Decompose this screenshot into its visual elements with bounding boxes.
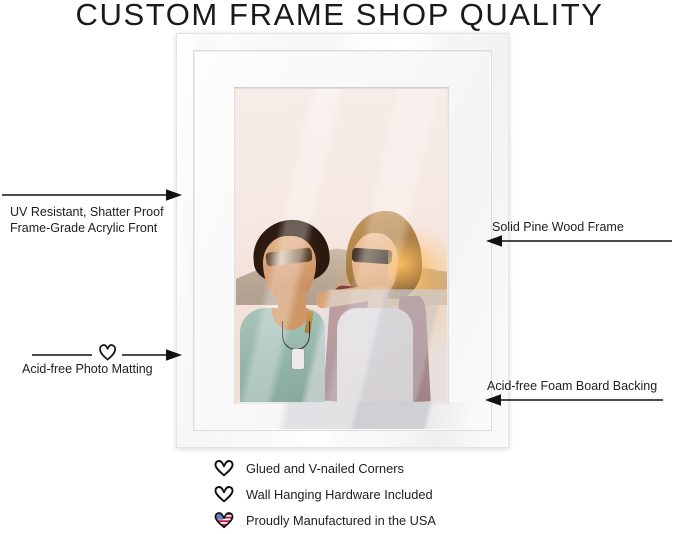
heart-outline-icon [213, 485, 235, 503]
heart-usa-flag-icon [213, 511, 235, 529]
list-item: Proudly Manufactured in the USA [213, 508, 513, 532]
list-item: Glued and V-nailed Corners [213, 456, 513, 480]
annotation-acrylic-front-line1: UV Resistant, Shatter Proof [10, 205, 164, 221]
arrow-photo-matting-icon [30, 340, 185, 362]
infographic-canvas: CUSTOM FRAME SHOP QUALITY [0, 0, 679, 530]
photo-woman-top [337, 308, 413, 402]
arrow-pine-wood-frame-icon [484, 232, 674, 250]
page-title: CUSTOM FRAME SHOP QUALITY [0, 0, 679, 32]
heart-outline-icon [213, 459, 235, 477]
photo-man-necklace [282, 321, 309, 350]
list-item: Wall Hanging Hardware Included [213, 482, 513, 506]
feature-list: Glued and V-nailed Corners Wall Hanging … [213, 456, 513, 534]
photo-woman-sunglasses [352, 247, 393, 264]
photo-image [236, 89, 447, 402]
annotation-acrylic-front: UV Resistant, Shatter Proof Frame-Grade … [10, 205, 164, 236]
photo-man-dogtag [292, 349, 304, 369]
feature-label: Glued and V-nailed Corners [246, 461, 404, 476]
arrow-acrylic-front-icon [0, 186, 184, 204]
photo-woman-hair-rimlight [388, 236, 434, 292]
arrow-foam-board-backing-icon [483, 391, 665, 409]
feature-label: Wall Hanging Hardware Included [246, 487, 433, 502]
annotation-acrylic-front-line2: Frame-Grade Acrylic Front [10, 221, 164, 237]
annotation-photo-matting: Acid-free Photo Matting [22, 362, 153, 377]
feature-label: Proudly Manufactured in the USA [246, 513, 436, 528]
